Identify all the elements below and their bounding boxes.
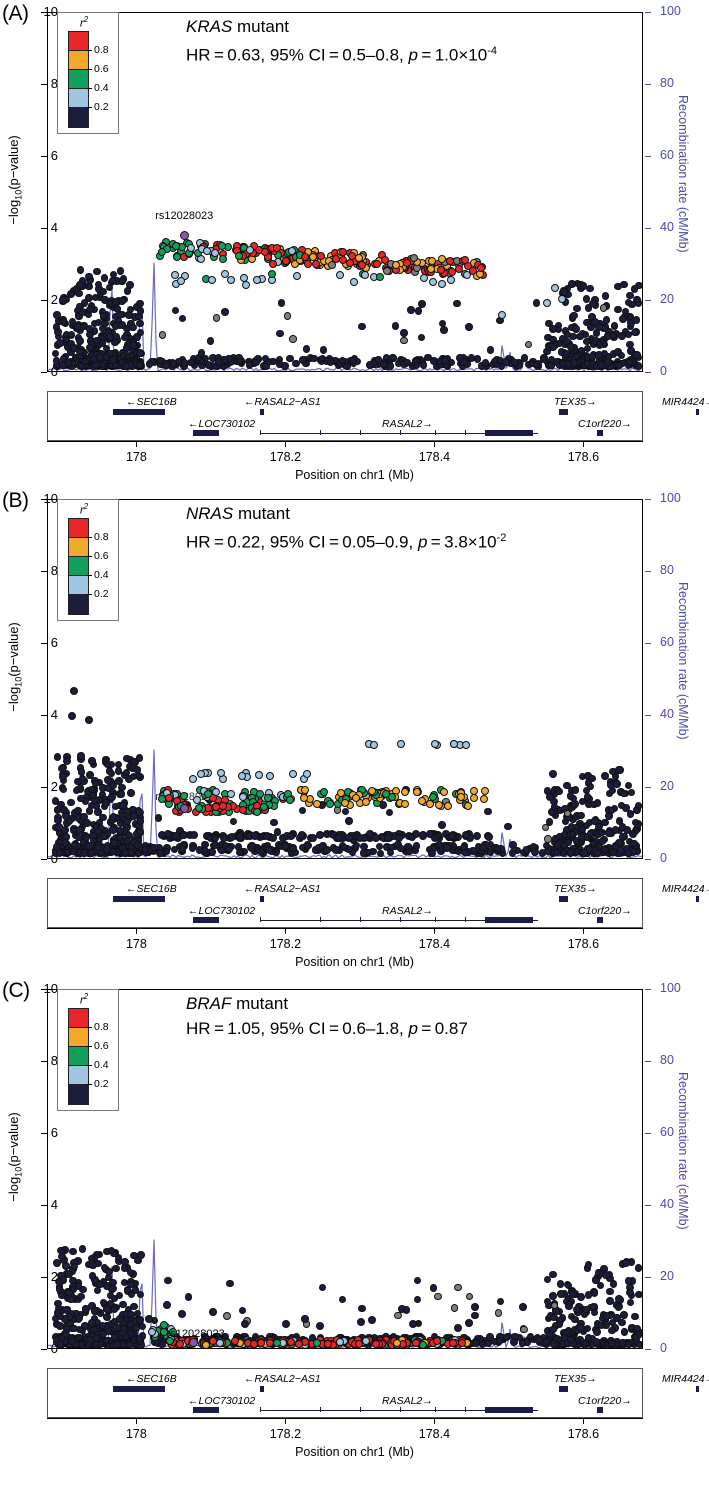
- x-tick-mark: [434, 928, 435, 934]
- y-tick-mark-right: [645, 1205, 651, 1206]
- scatter-point: [137, 307, 145, 315]
- gene-exon-tick: [320, 917, 321, 922]
- legend-swatch: [68, 1027, 89, 1048]
- y-tick-mark-left: [41, 372, 47, 373]
- p-value: = 0.87: [418, 1019, 468, 1038]
- scatter-point: [260, 803, 268, 811]
- scatter-point: [544, 835, 552, 843]
- gene-exon: [559, 896, 568, 902]
- y-tick-label-right: 100: [660, 981, 681, 995]
- scatter-point: [125, 312, 133, 320]
- gene-exon-tick: [360, 1407, 361, 1412]
- scatter-point: [601, 846, 609, 854]
- x-axis-label: Position on chr1 (Mb): [0, 1445, 709, 1459]
- p-exponent: -4: [487, 45, 497, 57]
- scatter-point: [335, 834, 343, 842]
- scatter-point: [123, 362, 131, 370]
- legend-swatch: [68, 69, 89, 90]
- scatter-point: [560, 849, 568, 857]
- scatter-point: [289, 335, 297, 343]
- gene-exon-tick: [400, 1407, 401, 1412]
- legend-value: 0.6: [94, 550, 109, 562]
- scatter-point: [393, 1339, 401, 1347]
- scatter-point: [618, 332, 626, 340]
- scatter-point: [57, 1340, 65, 1348]
- scatter-point: [103, 1313, 111, 1321]
- scatter-point: [441, 357, 449, 365]
- scatter-point: [591, 1289, 599, 1297]
- scatter-point: [77, 752, 85, 760]
- scatter-point: [118, 278, 126, 286]
- gene-exon: [485, 1407, 533, 1413]
- scatter-point: [593, 1338, 601, 1346]
- scatter-point: [539, 849, 547, 857]
- scatter-point: [555, 788, 563, 796]
- plot-area: rs12028023: [47, 989, 643, 1349]
- scatter-point: [470, 787, 478, 795]
- scatter-point: [428, 850, 436, 858]
- scatter-point: [269, 260, 277, 268]
- scatter-point: [589, 300, 597, 308]
- scatter-point: [455, 265, 463, 273]
- scatter-point: [180, 231, 189, 240]
- scatter-point: [440, 788, 448, 796]
- scatter-point: [146, 360, 154, 368]
- scatter-point: [568, 823, 576, 831]
- scatter-point: [586, 285, 594, 293]
- scatter-point: [601, 772, 609, 780]
- scatter-point: [633, 296, 641, 304]
- x-tick-mark: [583, 1418, 584, 1424]
- scatter-point: [238, 772, 246, 780]
- scatter-point: [231, 1337, 239, 1345]
- scatter-point: [108, 793, 116, 801]
- scatter-point: [392, 261, 400, 269]
- y-tick-label-right: 80: [660, 76, 674, 90]
- gene-exon-tick: [400, 430, 401, 435]
- legend-swatch: [68, 88, 89, 109]
- y-tick-label-right: 40: [660, 220, 674, 234]
- scatter-point: [159, 331, 167, 339]
- gene-label: TEX35→: [554, 396, 597, 408]
- y-tick-label-right: 60: [660, 1125, 674, 1139]
- scatter-point: [577, 1324, 585, 1332]
- scatter-point: [103, 845, 111, 853]
- scatter-point: [81, 358, 89, 366]
- scatter-point: [86, 306, 94, 314]
- scatter-point: [387, 362, 395, 370]
- scatter-point: [284, 312, 292, 320]
- gene-exon: [559, 1386, 568, 1392]
- scatter-point: [109, 1285, 117, 1293]
- x-tick-label: 178.6: [568, 450, 599, 464]
- scatter-point: [70, 687, 78, 695]
- r2-legend: r20.80.60.40.2: [57, 12, 119, 134]
- panel-title: KRAS mutantHR = 0.63, 95% CI = 0.5–0.8, …: [186, 14, 497, 68]
- legend-tick: [87, 1065, 92, 1066]
- scatter-point: [94, 844, 102, 852]
- gene-exon-tick: [465, 1407, 466, 1412]
- y-tick-mark-left: [41, 989, 47, 990]
- scatter-point: [262, 363, 270, 371]
- gene-label: C1orf220→: [578, 1395, 632, 1407]
- scatter-point: [633, 1325, 641, 1333]
- scatter-point: [613, 1314, 621, 1322]
- legend-value: 0.8: [94, 44, 109, 56]
- scatter-point: [83, 819, 91, 827]
- scatter-point: [115, 767, 123, 775]
- scatter-point: [582, 1306, 590, 1314]
- scatter-point: [567, 792, 575, 800]
- scatter-point: [444, 802, 452, 810]
- gene-exon: [559, 409, 568, 415]
- legend-tick: [87, 537, 92, 538]
- scatter-point: [252, 359, 260, 367]
- scatter-point: [479, 844, 487, 852]
- gene-label: TEX35→: [554, 1373, 597, 1385]
- scatter-point: [573, 305, 581, 313]
- scatter-point: [204, 790, 212, 798]
- gene-exon: [597, 430, 603, 436]
- scatter-point: [434, 1293, 442, 1301]
- scatter-point: [198, 349, 206, 357]
- scatter-point: [632, 1334, 640, 1342]
- scatter-point: [221, 308, 229, 316]
- x-tick-label: 178.2: [270, 1427, 301, 1441]
- gene-exon: [485, 917, 533, 923]
- legend-value: 0.6: [94, 63, 109, 75]
- gene-exon-tick: [400, 917, 401, 922]
- y-tick-mark-left: [41, 499, 47, 500]
- y-tick-mark-left: [41, 1277, 47, 1278]
- legend-swatch: [68, 50, 89, 71]
- mutant-word: mutant: [233, 504, 290, 523]
- y-tick-mark-right: [645, 571, 651, 572]
- scatter-point: [358, 1305, 366, 1313]
- y-tick-mark-right: [645, 859, 651, 860]
- y-tick-label-right: 100: [660, 4, 681, 18]
- x-tick-mark: [136, 441, 137, 447]
- scatter-point: [362, 1337, 370, 1345]
- legend-tick: [87, 1046, 92, 1047]
- scatter-point: [70, 1325, 78, 1333]
- scatter-point: [316, 1322, 324, 1330]
- y-axis-label-left: −log10(p−value): [6, 1082, 24, 1232]
- scatter-point: [549, 325, 557, 333]
- scatter-point: [257, 1339, 265, 1347]
- scatter-point: [62, 839, 70, 847]
- scatter-point: [320, 788, 328, 796]
- scatter-point: [350, 278, 358, 286]
- legend-value: 0.2: [94, 588, 109, 600]
- scatter-point: [253, 276, 261, 284]
- scatter-point: [236, 833, 244, 841]
- scatter-point: [595, 351, 603, 359]
- scatter-point: [471, 1303, 479, 1311]
- scatter-point: [211, 834, 219, 842]
- scatter-point: [553, 849, 561, 857]
- scatter-point: [56, 1285, 64, 1293]
- scatter-point: [495, 1309, 503, 1317]
- scatter-point: [127, 789, 135, 797]
- gene-track: ←SEC16B←RASAL2−AS1TEX35→MIR4424→←LOC7301…: [47, 391, 643, 441]
- scatter-point: [418, 334, 426, 342]
- x-tick-mark: [285, 1418, 286, 1424]
- scatter-point: [482, 359, 490, 367]
- scatter-point: [567, 343, 575, 351]
- x-tick-mark: [136, 1418, 137, 1424]
- scatter-point: [591, 318, 599, 326]
- scatter-point: [309, 834, 317, 842]
- scatter-point: [611, 322, 619, 330]
- scatter-point: [521, 354, 529, 362]
- x-tick-mark: [285, 441, 286, 447]
- scatter-point: [213, 314, 221, 322]
- gene-label: ←SEC16B: [126, 396, 177, 408]
- scatter-point: [366, 361, 374, 369]
- scatter-point: [266, 846, 274, 854]
- scatter-point: [419, 1341, 427, 1349]
- scatter-point: [109, 356, 117, 364]
- scatter-point: [323, 846, 331, 854]
- scatter-point: [549, 770, 557, 778]
- scatter-point: [557, 1290, 565, 1298]
- scatter-point: [630, 840, 638, 848]
- scatter-point: [117, 267, 125, 275]
- scatter-point: [356, 834, 364, 842]
- scatter-point: [82, 1305, 90, 1313]
- gene-label: ←RASAL2−AS1: [244, 1373, 321, 1385]
- scatter-point: [603, 316, 611, 324]
- x-tick-label: 178: [126, 937, 147, 951]
- gene-exon: [193, 1407, 219, 1413]
- scatter-point: [345, 817, 353, 825]
- y-tick-mark-left: [41, 1133, 47, 1134]
- x-tick-label: 178.6: [568, 1427, 599, 1441]
- scatter-point: [549, 1271, 557, 1279]
- x-tick-label: 178: [126, 1427, 147, 1441]
- scatter-point: [136, 300, 144, 308]
- y-tick-mark-right: [645, 12, 651, 13]
- y-tick-mark-right: [645, 1061, 651, 1062]
- gene-label: ←LOC730102: [188, 1395, 255, 1407]
- scatter-point: [420, 361, 428, 369]
- scatter-point: [76, 281, 84, 289]
- scatter-point: [56, 339, 64, 347]
- scatter-point: [94, 828, 102, 836]
- scatter-point: [54, 328, 62, 336]
- legend-value: 0.4: [94, 569, 109, 581]
- scatter-point: [63, 757, 71, 765]
- scatter-point: [75, 1314, 83, 1322]
- gene-exon: [597, 1407, 603, 1413]
- gene-exon-tick: [320, 430, 321, 435]
- y-tick-mark-left: [41, 571, 47, 572]
- scatter-point: [112, 322, 120, 330]
- scatter-point: [116, 827, 124, 835]
- scatter-point: [52, 797, 60, 805]
- scatter-point: [59, 296, 67, 304]
- scatter-point: [598, 838, 606, 846]
- scatter-point: [567, 849, 575, 857]
- scatter-point: [593, 1328, 601, 1336]
- gene-label: ←RASAL2−AS1: [244, 883, 321, 895]
- gene-label: ←SEC16B: [126, 1373, 177, 1385]
- gene-exon: [193, 430, 219, 436]
- gene-label: MIR4424→: [662, 1373, 709, 1385]
- scatter-point: [606, 1297, 614, 1305]
- gene-exon-tick: [435, 917, 436, 922]
- scatter-point: [395, 834, 403, 842]
- gene-exon: [113, 409, 165, 415]
- scatter-point: [511, 359, 519, 367]
- p-value: = 1.0×10: [418, 46, 487, 65]
- y-tick-mark-left: [41, 1205, 47, 1206]
- gene-name: NRAS: [186, 504, 233, 523]
- x-tick-mark: [434, 441, 435, 447]
- lead-snp-label: rs12028023: [167, 1328, 225, 1340]
- scatter-point: [94, 808, 102, 816]
- scatter-point: [103, 1305, 111, 1313]
- x-axis-label: Position on chr1 (Mb): [0, 955, 709, 969]
- y-tick-label-right: 100: [660, 491, 681, 505]
- scatter-point: [567, 1336, 575, 1344]
- scatter-point: [93, 268, 101, 276]
- y-tick-mark-left: [41, 859, 47, 860]
- legend-swatch: [68, 594, 89, 615]
- scatter-point: [64, 849, 72, 857]
- scatter-point: [162, 362, 170, 370]
- scatter-point: [59, 361, 67, 369]
- y-tick-mark-right: [645, 372, 651, 373]
- scatter-point: [96, 353, 104, 361]
- scatter-point: [303, 770, 311, 778]
- y-tick-mark-right: [645, 787, 651, 788]
- y-tick-mark-right: [645, 1133, 651, 1134]
- y-tick-label-right: 60: [660, 635, 674, 649]
- y-tick-mark-left: [41, 1061, 47, 1062]
- scatter-point: [114, 305, 122, 313]
- scatter-point: [208, 276, 216, 284]
- gene-label: MIR4424→: [662, 396, 709, 408]
- legend-tick: [87, 1084, 92, 1085]
- scatter-point: [588, 775, 596, 783]
- scatter-point: [451, 1304, 459, 1312]
- scatter-point: [105, 784, 113, 792]
- gene-exon: [113, 896, 165, 902]
- scatter-point: [179, 845, 187, 853]
- gene-label: C1orf220→: [578, 418, 632, 430]
- scatter-point: [301, 1315, 309, 1323]
- gene-exon-tick: [435, 1407, 436, 1412]
- scatter-point: [349, 357, 357, 365]
- gene-label: ←LOC730102: [188, 418, 255, 430]
- scatter-point: [62, 1262, 70, 1270]
- scatter-point: [74, 807, 82, 815]
- y-tick-label-right: 0: [660, 851, 667, 865]
- gene-exon-tick: [260, 917, 261, 922]
- y-tick-mark-left: [41, 84, 47, 85]
- scatter-point: [86, 771, 94, 779]
- gene-exon: [260, 409, 264, 415]
- scatter-point: [110, 813, 118, 821]
- y-tick-label-right: 40: [660, 1197, 674, 1211]
- scatter-point: [56, 1322, 64, 1330]
- scatter-point: [225, 845, 233, 853]
- scatter-point: [357, 1318, 365, 1326]
- scatter-point: [221, 270, 229, 278]
- scatter-point: [633, 351, 641, 359]
- scatter-point: [136, 828, 144, 836]
- scatter-point: [326, 800, 334, 808]
- scatter-point: [212, 841, 220, 849]
- scatter-point: [150, 844, 158, 852]
- scatter-point: [76, 337, 84, 345]
- legend-value: 0.2: [94, 101, 109, 113]
- scatter-point: [523, 846, 531, 854]
- scatter-point: [53, 1259, 61, 1267]
- scatter-point: [310, 355, 318, 363]
- scatter-point: [56, 849, 64, 857]
- scatter-point: [65, 1289, 73, 1297]
- scatter-point: [602, 292, 610, 300]
- scatter-point: [606, 1288, 614, 1296]
- x-tick-label: 178.6: [568, 937, 599, 951]
- scatter-point: [377, 850, 385, 858]
- gene-label: RASAL2→: [382, 1395, 433, 1407]
- scatter-point: [360, 849, 368, 857]
- y-tick-mark-right: [645, 300, 651, 301]
- scatter-point: [287, 1338, 295, 1346]
- scatter-point: [216, 1339, 224, 1347]
- scatter-point: [584, 345, 592, 353]
- scatter-point: [273, 1339, 281, 1347]
- scatter-point: [69, 1248, 77, 1256]
- scatter-point: [270, 819, 278, 827]
- scatter-point: [134, 841, 142, 849]
- scatter-point: [570, 359, 578, 367]
- gene-exon: [696, 409, 699, 415]
- legend-title: r2: [80, 992, 88, 1007]
- scatter-point: [337, 789, 345, 797]
- scatter-point: [465, 323, 473, 331]
- gene-exon-tick: [465, 430, 466, 435]
- scatter-point: [235, 252, 243, 260]
- scatter-point: [424, 354, 432, 362]
- scatter-point: [403, 1306, 411, 1314]
- scatter-point: [336, 271, 344, 279]
- scatter-point: [578, 833, 586, 841]
- y-axis-label-right: Recombination rate (cM/Mb): [676, 95, 690, 295]
- scatter-point: [121, 1258, 129, 1266]
- scatter-point: [181, 359, 189, 367]
- panel-letter: (C): [2, 979, 30, 1003]
- y-tick-mark-right: [645, 643, 651, 644]
- scatter-point: [287, 832, 295, 840]
- scatter-point: [631, 329, 639, 337]
- panel-a: (A)rs120280230246810020406080100−log10(p…: [0, 0, 709, 495]
- scatter-point: [519, 1303, 527, 1311]
- scatter-point: [462, 741, 470, 749]
- scatter-point: [438, 821, 446, 829]
- scatter-point: [626, 358, 634, 366]
- scatter-point: [375, 356, 383, 364]
- scatter-point: [413, 842, 421, 850]
- scatter-point: [608, 1340, 616, 1348]
- scatter-point: [460, 358, 468, 366]
- y-tick-label-right: 20: [660, 292, 674, 306]
- scatter-point: [67, 1296, 75, 1304]
